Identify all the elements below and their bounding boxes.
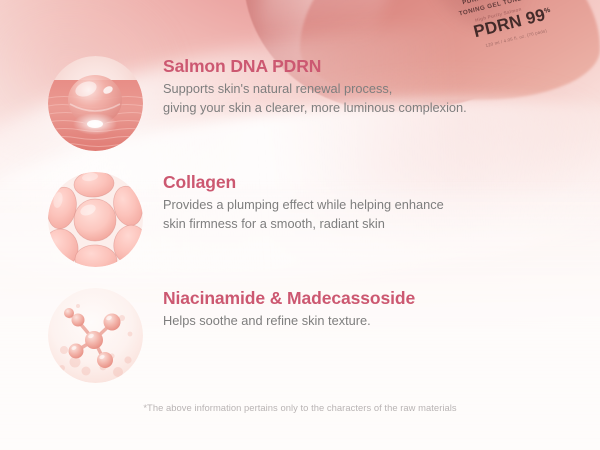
ingredient-title: Salmon DNA PDRN <box>163 56 583 76</box>
ingredient-infographic: PDRN PINK COLLAGEN TONING GEL TONER PAD … <box>0 0 600 450</box>
ingredient-description: Helps soothe and refine skin texture. <box>163 312 583 330</box>
ingredient-copy: Collagen Provides a plumping effect whil… <box>163 172 583 233</box>
ingredient-description: Supports skin's natural renewal process,… <box>163 80 583 117</box>
pink-collagen-bubbles-icon <box>48 172 143 267</box>
description-line: Provides a plumping effect while helping… <box>163 196 583 214</box>
description-line: giving your skin a clearer, more luminou… <box>163 99 583 117</box>
description-line: Helps soothe and refine skin texture. <box>163 312 583 330</box>
ingredient-copy: Niacinamide & Madecassoside Helps soothe… <box>163 288 583 331</box>
description-line: Supports skin's natural renewal process, <box>163 80 583 98</box>
ingredient-list: Salmon DNA PDRN Supports skin's natural … <box>0 0 600 400</box>
ingredient-copy: Salmon DNA PDRN Supports skin's natural … <box>163 56 583 117</box>
ingredient-title: Collagen <box>163 172 583 192</box>
footnote-disclaimer: *The above information pertains only to … <box>0 402 600 413</box>
description-line: skin firmness for a smooth, radiant skin <box>163 215 583 233</box>
ingredient-title: Niacinamide & Madecassoside <box>163 288 583 308</box>
pink-molecule-structure-icon <box>48 288 143 383</box>
ingredient-description: Provides a plumping effect while helping… <box>163 196 583 233</box>
pink-water-droplet-sphere-icon <box>48 56 143 151</box>
